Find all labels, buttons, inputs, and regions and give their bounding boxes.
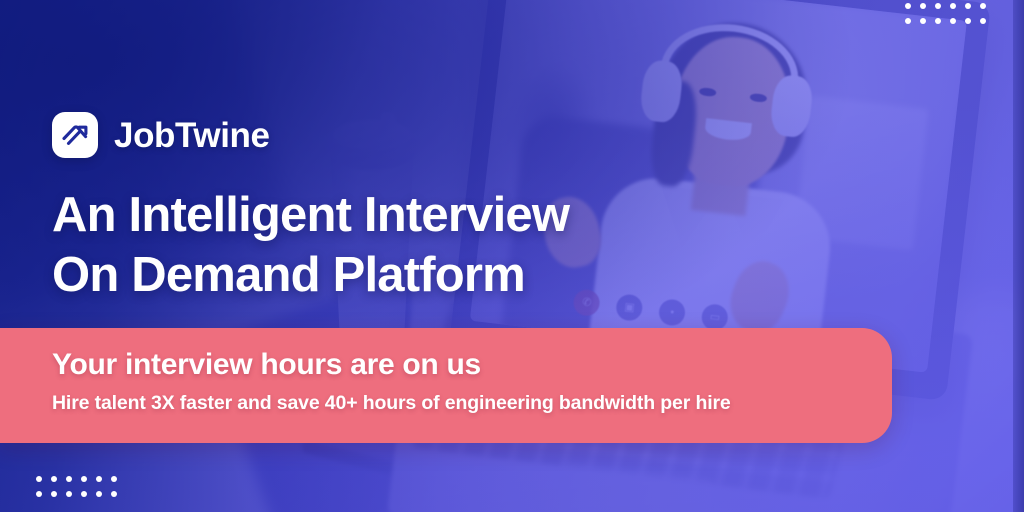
dot <box>980 18 986 24</box>
dot <box>51 476 57 482</box>
brand-name: JobTwine <box>114 118 270 153</box>
dot <box>96 476 102 482</box>
headline-line-2: On Demand Platform <box>52 246 569 306</box>
dot <box>81 491 87 497</box>
dot <box>111 476 117 482</box>
dot <box>66 476 72 482</box>
offer-callout: Your interview hours are on us Hire tale… <box>0 328 892 443</box>
dot-grid-bottom-left <box>36 476 117 497</box>
dot-grid-top-right <box>905 3 986 24</box>
dot <box>111 491 117 497</box>
dot <box>980 3 986 9</box>
dot <box>920 3 926 9</box>
dot <box>920 18 926 24</box>
dot <box>36 476 42 482</box>
jobtwine-arrow-icon <box>52 112 98 158</box>
dot <box>965 18 971 24</box>
dot <box>965 3 971 9</box>
dot <box>950 3 956 9</box>
brand-logo[interactable]: JobTwine <box>52 112 270 158</box>
dot <box>935 3 941 9</box>
offer-headline: Your interview hours are on us <box>52 348 892 383</box>
right-edge-shade <box>1013 0 1024 512</box>
page-title: An Intelligent Interview On Demand Platf… <box>52 186 569 306</box>
dot <box>36 491 42 497</box>
marketing-banner: ✆ ▣ • ▭ <box>0 0 1024 512</box>
dot <box>905 3 911 9</box>
dot <box>51 491 57 497</box>
dot <box>81 476 87 482</box>
dot <box>935 18 941 24</box>
dot <box>66 491 72 497</box>
dot <box>950 18 956 24</box>
headline-line-1: An Intelligent Interview <box>52 186 569 246</box>
dot <box>96 491 102 497</box>
offer-subtext: Hire talent 3X faster and save 40+ hours… <box>52 392 892 415</box>
dot <box>905 18 911 24</box>
